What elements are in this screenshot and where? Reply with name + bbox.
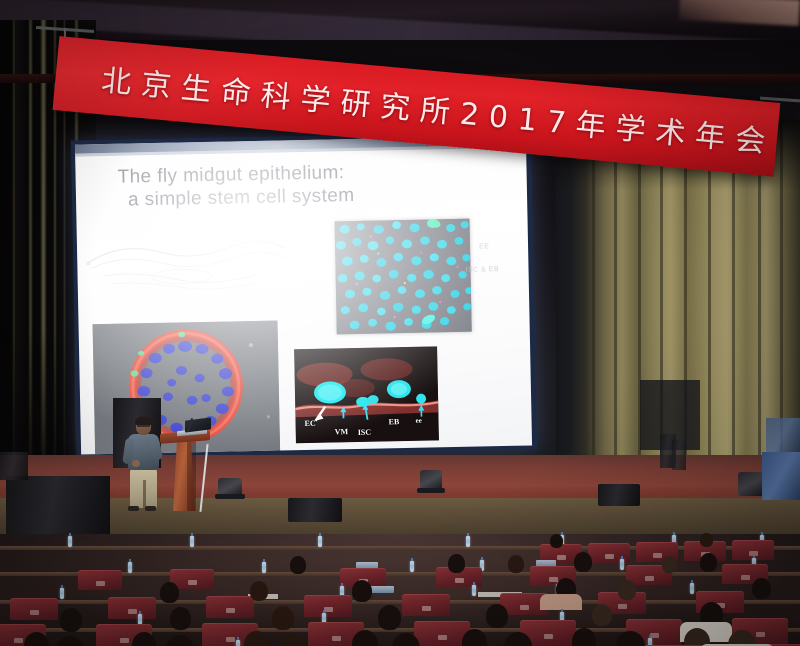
slide-side-note-bottom: ISC & EB: [465, 266, 499, 274]
seat: [402, 594, 450, 616]
seat: [78, 570, 122, 590]
speaker-cabinet-left: [0, 452, 28, 480]
auditorium-photo: The fly midgut epithelium: a simple stem…: [0, 0, 800, 646]
seat: [108, 597, 156, 619]
seat: [206, 596, 254, 618]
slide-title-line-1: The fly midgut epithelium:: [117, 162, 344, 188]
label-ee: ee: [415, 417, 421, 425]
stage-monitor-right: [598, 484, 640, 506]
label-vm: VM: [335, 427, 349, 436]
speaker-stack-bottom: [6, 476, 110, 534]
seat: [304, 595, 352, 617]
stage-lectern-backstage: [672, 440, 686, 470]
audience-seating: [0, 534, 800, 646]
fly-gut-diagram: [85, 228, 291, 302]
seat: [10, 598, 58, 620]
moving-head-light-center: [420, 470, 442, 490]
blue-speaker-cabinet-upper: [766, 418, 800, 452]
label-ec: EC: [304, 419, 315, 428]
ceiling-corner-light: [679, 0, 800, 26]
micrograph-epithelium-section: EC VM ISC EB ee: [294, 346, 439, 443]
label-isc: ISC: [358, 428, 372, 437]
slide-side-note-top: EE: [479, 243, 489, 250]
blue-speaker-cabinet: [762, 452, 800, 500]
slide-title: The fly midgut epithelium: a simple stem…: [117, 159, 458, 212]
presenter: [124, 418, 164, 510]
moving-head-light-right: [738, 472, 764, 496]
stage-monitor-center: [288, 498, 342, 522]
lectern: [163, 432, 207, 514]
micrograph-nuclei-field: [335, 219, 472, 335]
label-eb: EB: [388, 417, 399, 426]
